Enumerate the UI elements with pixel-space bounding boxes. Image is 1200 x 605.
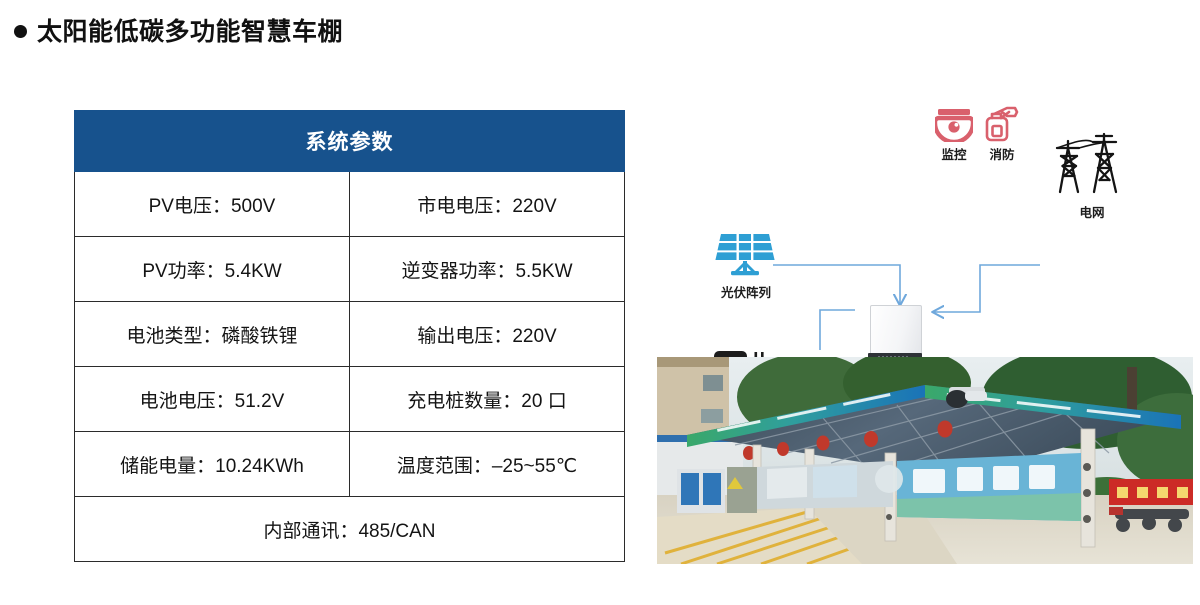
cell-battery-voltage: 电池电压：51.2V — [75, 367, 350, 432]
cell-output-voltage: 输出电压：220V — [350, 302, 625, 367]
inverter-body — [870, 305, 922, 357]
cell-temperature-range: 温度范围：–25~55℃ — [350, 432, 625, 497]
page-title-text: 太阳能低碳多功能智慧车棚 — [37, 12, 343, 48]
table-header-row: 系统参数 — [75, 111, 625, 172]
table-row: 储能电量：10.24KWh 温度范围：–25~55℃ — [75, 432, 625, 497]
carport-photo-image — [657, 357, 1193, 564]
cctv-camera-icon — [935, 108, 973, 142]
cell-pv-power: PV功率：5.4KW — [75, 237, 350, 302]
table-row: 电池类型：磷酸铁锂 输出电压：220V — [75, 302, 625, 367]
table-header-cell: 系统参数 — [75, 111, 625, 172]
table-row: PV功率：5.4KW 逆变器功率：5.5KW — [75, 237, 625, 302]
transmission-tower-icon — [1052, 132, 1132, 200]
cell-pv-voltage: PV电压：500V — [75, 172, 350, 237]
node-label-fire-safety: 消防 — [989, 144, 1014, 163]
fire-extinguisher-icon — [981, 106, 1021, 142]
carport-photo — [657, 357, 1193, 564]
cell-storage-capacity: 储能电量：10.24KWh — [75, 432, 350, 497]
bullet-icon — [14, 25, 27, 38]
cell-mains-voltage: 市电电压：220V — [350, 172, 625, 237]
cell-inverter-power: 逆变器功率：5.5KW — [350, 237, 625, 302]
page-title: 太阳能低碳多功能智慧车棚 — [14, 12, 343, 48]
solar-panel-icon — [709, 230, 781, 282]
cell-charger-count: 充电桩数量：20 口 — [350, 367, 625, 432]
node-label-pv-array: 光伏阵列 — [721, 282, 771, 301]
table-row: PV电压：500V 市电电压：220V — [75, 172, 625, 237]
table-row: 电池电压：51.2V 充电桩数量：20 口 — [75, 367, 625, 432]
system-parameters-table: 系统参数 PV电压：500V 市电电压：220V PV功率：5.4KW 逆变器功… — [74, 110, 625, 562]
cell-battery-type: 电池类型：磷酸铁锂 — [75, 302, 350, 367]
cell-internal-communication: 内部通讯：485/CAN — [75, 497, 625, 562]
system-flow-diagram: 光伏阵列 监控 消防 — [655, 100, 1195, 350]
table-row: 内部通讯：485/CAN — [75, 497, 625, 562]
node-label-power-grid: 电网 — [1079, 202, 1104, 221]
node-label-surveillance: 监控 — [941, 144, 966, 163]
